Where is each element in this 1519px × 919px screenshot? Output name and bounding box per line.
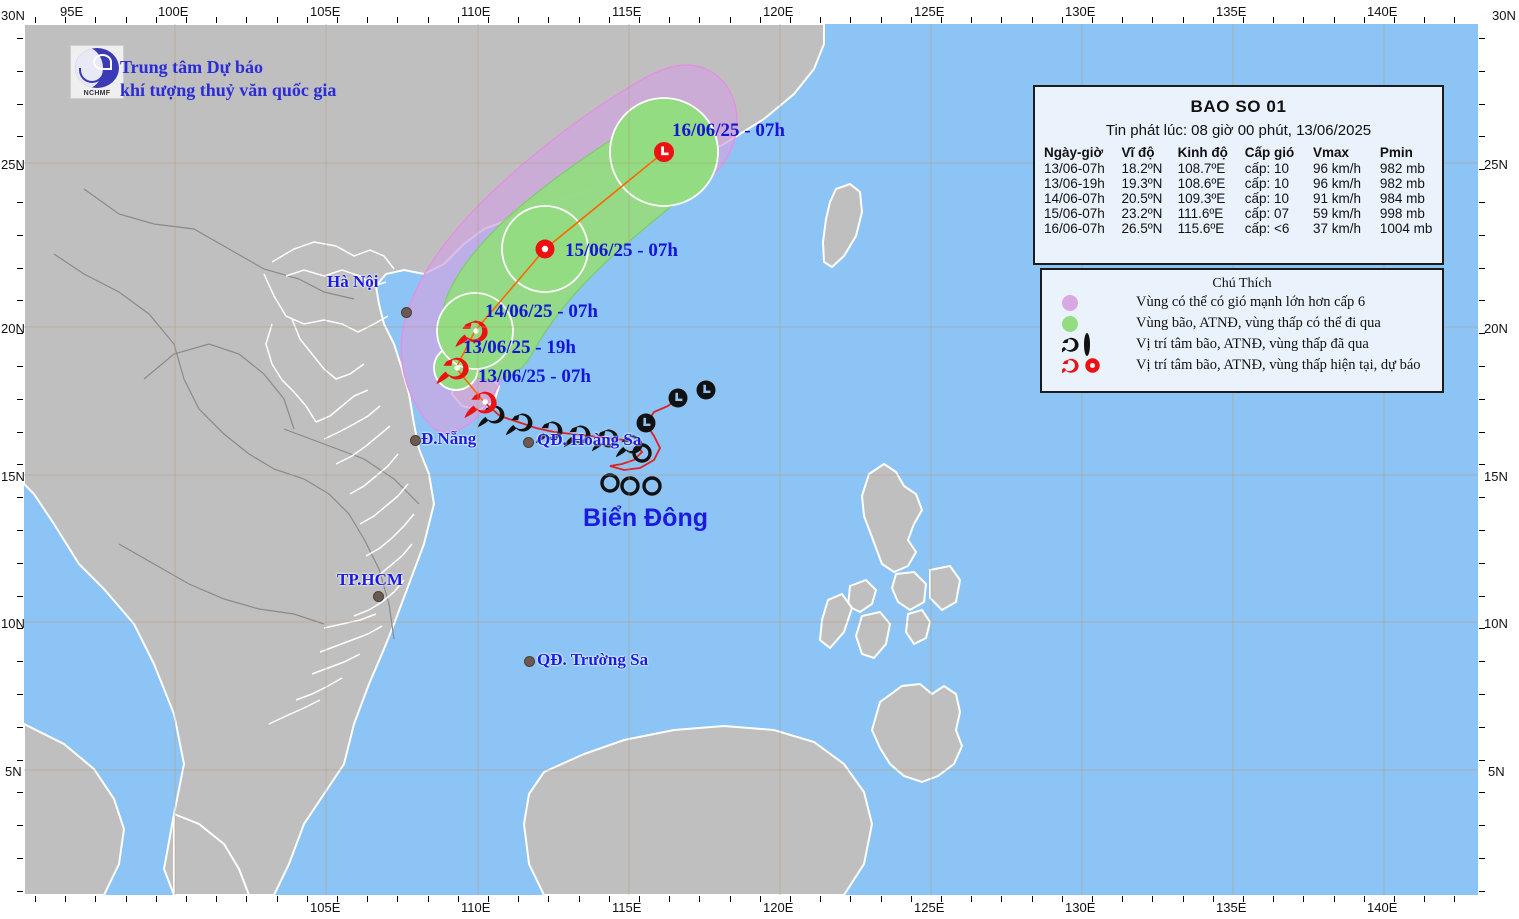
axis-tick bbox=[17, 792, 23, 793]
axis-tick bbox=[1273, 896, 1274, 902]
cell-pmin: 982 mb bbox=[1370, 161, 1442, 176]
axis-tick bbox=[669, 17, 670, 23]
cell-vmax: 96 km/h bbox=[1303, 161, 1370, 176]
cell-windlevel: cấp: 10 bbox=[1237, 176, 1303, 191]
axis-tick bbox=[458, 896, 459, 902]
cell-vmax: 96 km/h bbox=[1303, 176, 1370, 191]
past-L-2 bbox=[697, 381, 716, 400]
lat-label-left-5N: 5N bbox=[5, 764, 22, 779]
axis-tick bbox=[17, 891, 23, 892]
axis-tick bbox=[1479, 71, 1485, 72]
lon-label-top-110E: 110E bbox=[461, 4, 490, 19]
red-low-L-icon bbox=[1106, 357, 1123, 374]
logo-abbr: NCHMF bbox=[71, 90, 123, 97]
axis-tick bbox=[17, 300, 23, 301]
axis-tick bbox=[216, 896, 217, 902]
axis-tick bbox=[156, 17, 157, 23]
axis-tick bbox=[548, 896, 549, 902]
axis-tick bbox=[760, 896, 761, 902]
lat-label-right-25N: 25N bbox=[1484, 157, 1508, 172]
axis-tick bbox=[1213, 17, 1214, 23]
cell-longitude: 109.3ºE bbox=[1170, 191, 1237, 206]
cell-pmin: 982 mb bbox=[1370, 176, 1442, 191]
lat-label-right-15N: 15N bbox=[1484, 469, 1508, 484]
lon-label-top-115E: 115E bbox=[612, 4, 641, 19]
axis-tick bbox=[277, 17, 278, 23]
axis-tick bbox=[1479, 300, 1485, 301]
axis-tick bbox=[1303, 17, 1304, 23]
axis-tick bbox=[1273, 17, 1274, 23]
cell-latitude: 23.2ºN bbox=[1115, 206, 1169, 221]
logo-bird-icon bbox=[93, 54, 112, 70]
track-label-13-06-19h: 13/06/25 - 19h bbox=[463, 337, 576, 359]
axis-tick bbox=[1479, 792, 1485, 793]
axis-tick bbox=[367, 17, 368, 23]
cell-windlevel: cấp: 10 bbox=[1237, 191, 1303, 206]
axis-tick bbox=[820, 896, 821, 902]
agency-name: Trung tâm Dự báo khí tượng thuỷ văn quốc… bbox=[120, 56, 336, 102]
city-label-tphcm: TP.HCM bbox=[337, 570, 403, 590]
axis-tick bbox=[17, 38, 23, 39]
axis-tick bbox=[820, 17, 821, 23]
axis-tick bbox=[1152, 17, 1153, 23]
axis-tick bbox=[1479, 661, 1485, 662]
cell-vmax: 59 km/h bbox=[1303, 206, 1370, 221]
axis-tick bbox=[17, 399, 23, 400]
axis-tick bbox=[17, 202, 23, 203]
axis-tick bbox=[397, 17, 398, 23]
axis-tick bbox=[881, 17, 882, 23]
legend-title: Chú Thích bbox=[1042, 276, 1442, 292]
axis-tick bbox=[1032, 896, 1033, 902]
axis-tick bbox=[17, 497, 23, 498]
axis-tick bbox=[95, 896, 96, 902]
cell-windlevel: cấp: 10 bbox=[1237, 161, 1303, 176]
cell-windlevel: cấp: 07 bbox=[1237, 206, 1303, 221]
axis-tick bbox=[1213, 896, 1214, 902]
axis-tick bbox=[1479, 104, 1485, 105]
track-label-14-06: 14/06/25 - 07h bbox=[485, 301, 598, 323]
city-dot-danang bbox=[410, 435, 421, 446]
axis-tick bbox=[1032, 17, 1033, 23]
col-header-pmin: Pmin bbox=[1370, 145, 1442, 161]
axis-tick bbox=[1479, 235, 1485, 236]
axis-tick bbox=[17, 596, 23, 597]
col-header-longitude: Kinh độ bbox=[1170, 145, 1237, 161]
black-open-circle-icon bbox=[1084, 336, 1101, 353]
axis-tick bbox=[548, 17, 549, 23]
axis-tick bbox=[1479, 497, 1485, 498]
axis-tick bbox=[17, 661, 23, 662]
lon-label-top-135E: 135E bbox=[1216, 4, 1246, 19]
axis-tick bbox=[35, 17, 36, 23]
axis-tick bbox=[579, 17, 580, 23]
col-header-windlevel: Cấp gió bbox=[1237, 145, 1303, 161]
axis-tick bbox=[1152, 896, 1153, 902]
lon-label-bottom-110E: 110E bbox=[461, 900, 490, 915]
col-header-vmax: Vmax bbox=[1303, 145, 1370, 161]
black-low-L-icon bbox=[1106, 336, 1123, 353]
lon-label-bottom-140E: 140E bbox=[1367, 900, 1397, 915]
table-row: 16/06-07h 26.5ºN 115.6ºE cấp: <6 37 km/h… bbox=[1035, 221, 1442, 236]
cell-longitude: 115.6ºE bbox=[1170, 221, 1237, 236]
cell-datetime: 13/06-19h bbox=[1035, 176, 1115, 191]
axis-tick bbox=[1479, 891, 1485, 892]
lon-label-bottom-125E: 125E bbox=[914, 900, 944, 915]
axis-tick bbox=[1479, 596, 1485, 597]
lon-label-bottom-115E: 115E bbox=[612, 900, 641, 915]
axis-tick bbox=[1001, 17, 1002, 23]
axis-tick bbox=[1334, 896, 1335, 902]
axis-tick bbox=[669, 896, 670, 902]
axis-tick bbox=[1424, 896, 1425, 902]
axis-tick bbox=[1479, 858, 1485, 859]
city-label-hoangsa: QĐ. Hoàng Sa bbox=[537, 430, 641, 450]
cell-pmin: 998 mb bbox=[1370, 206, 1442, 221]
city-dot-hoangsa bbox=[523, 437, 534, 448]
storm-title: BAO SO 01 bbox=[1035, 97, 1442, 117]
cell-windlevel: cấp: <6 bbox=[1237, 221, 1303, 236]
lat-label-right-10N: 10N bbox=[1484, 616, 1508, 631]
axis-tick bbox=[1334, 17, 1335, 23]
axis-tick bbox=[17, 136, 23, 137]
axis-tick bbox=[1479, 530, 1485, 531]
storm-info-panel: BAO SO 01 Tin phát lúc: 08 giờ 00 phút, … bbox=[1033, 85, 1444, 265]
philippine-isle-4 bbox=[906, 610, 930, 644]
cell-longitude: 108.7ºE bbox=[1170, 161, 1237, 176]
cell-longitude: 111.6ºE bbox=[1170, 206, 1237, 221]
cell-latitude: 20.5ºN bbox=[1115, 191, 1169, 206]
track-label-13-06-07h: 13/06/25 - 07h bbox=[478, 366, 591, 388]
lon-label-top-130E: 130E bbox=[1065, 4, 1095, 19]
lon-label-top-105E: 105E bbox=[310, 4, 340, 19]
axis-tick bbox=[1424, 17, 1425, 23]
lon-label-bottom-135E: 135E bbox=[1216, 900, 1246, 915]
axis-tick bbox=[518, 17, 519, 23]
axis-tick bbox=[397, 896, 398, 902]
axis-tick bbox=[17, 432, 23, 433]
cell-datetime: 13/06-07h bbox=[1035, 161, 1115, 176]
axis-tick bbox=[1479, 727, 1485, 728]
axis-tick bbox=[17, 530, 23, 531]
axis-tick bbox=[216, 17, 217, 23]
axis-tick bbox=[277, 896, 278, 902]
axis-tick bbox=[17, 366, 23, 367]
axis-tick bbox=[760, 17, 761, 23]
purple-circle-icon bbox=[1062, 295, 1078, 311]
legend-text-wind6: Vùng có thể có gió mạnh lớn hơn cấp 6 bbox=[1136, 294, 1365, 311]
lon-label-top-140E: 140E bbox=[1367, 4, 1397, 19]
cell-vmax: 91 km/h bbox=[1303, 191, 1370, 206]
axis-tick bbox=[911, 17, 912, 23]
forecast-depression-15-07h bbox=[536, 240, 555, 259]
axis-tick bbox=[699, 17, 700, 23]
green-circle-icon bbox=[1062, 316, 1078, 332]
axis-tick bbox=[35, 896, 36, 902]
axis-tick bbox=[1479, 464, 1485, 465]
axis-tick bbox=[1479, 760, 1485, 761]
axis-tick bbox=[65, 896, 66, 902]
table-row: 15/06-07h 23.2ºN 111.6ºE cấp: 07 59 km/h… bbox=[1035, 206, 1442, 221]
legend-text-past: Vị trí tâm bão, ATNĐ, vùng thấp đã qua bbox=[1136, 336, 1369, 353]
axis-tick bbox=[246, 896, 247, 902]
lat-label-left-10N: 10N bbox=[1, 616, 25, 631]
axis-tick bbox=[17, 825, 23, 826]
col-header-datetime: Ngày-giờ bbox=[1035, 145, 1115, 161]
axis-tick bbox=[1479, 202, 1485, 203]
legend-symbol-purple-circle bbox=[1054, 295, 1136, 311]
forecast-low-16-07h bbox=[654, 142, 674, 162]
axis-tick bbox=[17, 71, 23, 72]
axis-tick bbox=[730, 896, 731, 902]
axis-tick bbox=[730, 17, 731, 23]
axis-tick bbox=[17, 727, 23, 728]
lat-label-right-5N: 5N bbox=[1488, 764, 1505, 779]
cell-longitude: 108.6ºE bbox=[1170, 176, 1237, 191]
col-header-latitude: Vĩ độ bbox=[1115, 145, 1169, 161]
lon-label-bottom-120E: 120E bbox=[763, 900, 793, 915]
red-storm-swirl-icon bbox=[1062, 357, 1079, 374]
agency-name-line1: Trung tâm Dự báo bbox=[120, 56, 336, 79]
axis-tick bbox=[17, 760, 23, 761]
city-label-truongsa: QĐ. Trường Sa bbox=[537, 650, 648, 670]
axis-tick bbox=[881, 896, 882, 902]
axis-tick bbox=[850, 17, 851, 23]
axis-tick bbox=[126, 896, 127, 902]
axis-tick bbox=[95, 17, 96, 23]
lon-label-bottom-130E: 130E bbox=[1065, 900, 1095, 915]
legend-panel: Chú Thích Vùng có thể có gió mạnh lớn hơ… bbox=[1040, 268, 1444, 393]
axis-right bbox=[1478, 0, 1519, 919]
axis-tick bbox=[1479, 432, 1485, 433]
cell-latitude: 18.2ºN bbox=[1115, 161, 1169, 176]
axis-tick bbox=[1479, 366, 1485, 367]
axis-tick bbox=[1122, 896, 1123, 902]
cell-pmin: 1004 mb bbox=[1370, 221, 1442, 236]
cell-vmax: 37 km/h bbox=[1303, 221, 1370, 236]
legend-text-current: Vị trí tâm bão, ATNĐ, vùng thấp hiện tại… bbox=[1136, 357, 1421, 374]
axis-tick bbox=[246, 17, 247, 23]
red-filled-circle-icon bbox=[1084, 357, 1101, 374]
sea-label-bien-dong: Biển Đông bbox=[583, 504, 708, 533]
legend-text-passage: Vùng bão, ATNĐ, vùng thấp có thể đi qua bbox=[1136, 315, 1381, 332]
axis-tick bbox=[579, 896, 580, 902]
axis-left bbox=[0, 0, 24, 919]
table-header-row: Ngày-giờ Vĩ độ Kinh độ Cấp gió Vmax Pmin bbox=[1035, 145, 1442, 161]
axis-tick bbox=[428, 17, 429, 23]
axis-tick bbox=[17, 268, 23, 269]
axis-tick bbox=[609, 896, 610, 902]
lon-label-top-95E: 95E bbox=[60, 4, 83, 19]
cell-datetime: 15/06-07h bbox=[1035, 206, 1115, 221]
legend-row-past: Vị trí tâm bão, ATNĐ, vùng thấp đã qua bbox=[1042, 334, 1442, 355]
axis-tick bbox=[17, 858, 23, 859]
axis-tick bbox=[1062, 17, 1063, 23]
axis-tick bbox=[186, 896, 187, 902]
cell-datetime: 14/06-07h bbox=[1035, 191, 1115, 206]
axis-tick bbox=[971, 17, 972, 23]
axis-tick bbox=[1479, 563, 1485, 564]
city-dot-hanoi bbox=[401, 307, 412, 318]
table-row: 13/06-19h 19.3ºN 108.6ºE cấp: 10 96 km/h… bbox=[1035, 176, 1442, 191]
axis-tick bbox=[1454, 17, 1455, 23]
axis-tick bbox=[1479, 399, 1485, 400]
forecast-table: Ngày-giờ Vĩ độ Kinh độ Cấp gió Vmax Pmin… bbox=[1035, 145, 1442, 236]
legend-row-wind6: Vùng có thể có gió mạnh lớn hơn cấp 6 bbox=[1042, 292, 1442, 313]
lon-label-top-120E: 120E bbox=[763, 4, 793, 19]
lat-label-left-15N: 15N bbox=[1, 469, 25, 484]
axis-tick bbox=[17, 104, 23, 105]
table-row: 14/06-07h 20.5ºN 109.3ºE cấp: 10 91 km/h… bbox=[1035, 191, 1442, 206]
legend-row-passage: Vùng bão, ATNĐ, vùng thấp có thể đi qua bbox=[1042, 313, 1442, 334]
legend-symbol-red-trio bbox=[1054, 357, 1136, 374]
axis-tick bbox=[1183, 17, 1184, 23]
lon-label-top-125E: 125E bbox=[914, 4, 944, 19]
track-label-15-06: 15/06/25 - 07h bbox=[565, 240, 678, 262]
cell-latitude: 26.5ºN bbox=[1115, 221, 1169, 236]
axis-tick bbox=[1454, 896, 1455, 902]
axis-tick bbox=[17, 464, 23, 465]
axis-tick bbox=[307, 17, 308, 23]
black-storm-swirl-icon bbox=[1062, 336, 1079, 353]
lat-label-right-20N: 20N bbox=[1484, 321, 1508, 336]
nchmf-logo: NCHMF bbox=[70, 45, 124, 99]
axis-tick bbox=[1122, 17, 1123, 23]
lat-label-left-20N: 20N bbox=[1, 321, 25, 336]
city-dot-truongsa bbox=[524, 656, 535, 667]
axis-tick bbox=[518, 896, 519, 902]
axis-tick bbox=[1479, 825, 1485, 826]
lat-label-left-25N: 25N bbox=[1, 157, 25, 172]
axis-tick bbox=[1001, 896, 1002, 902]
axis-tick bbox=[971, 896, 972, 902]
legend-symbol-black-trio bbox=[1054, 336, 1136, 353]
past-L-1 bbox=[669, 389, 688, 408]
axis-tick bbox=[307, 896, 308, 902]
lat-label-right-30N: 30N bbox=[1492, 8, 1516, 23]
lat-label-left-30N: 30N bbox=[1, 8, 25, 23]
city-dot-tphcm bbox=[373, 591, 384, 602]
axis-tick bbox=[458, 17, 459, 23]
axis-tick bbox=[1479, 268, 1485, 269]
axis-tick bbox=[1479, 38, 1485, 39]
table-row: 13/06-07h 18.2ºN 108.7ºE cấp: 10 96 km/h… bbox=[1035, 161, 1442, 176]
track-label-16-06: 16/06/25 - 07h bbox=[672, 120, 785, 142]
agency-name-line2: khí tượng thuỷ văn quốc gia bbox=[120, 79, 336, 102]
city-label-danang: Đ.Nẵng bbox=[421, 429, 476, 449]
axis-tick bbox=[1303, 896, 1304, 902]
axis-tick bbox=[367, 896, 368, 902]
cell-datetime: 16/06-07h bbox=[1035, 221, 1115, 236]
storm-track-map-page: Hà Nội Đ.Nẵng TP.HCM QĐ. Hoàng Sa QĐ. Tr… bbox=[0, 0, 1519, 919]
axis-tick bbox=[1479, 136, 1485, 137]
philippine-isle-5 bbox=[930, 566, 960, 610]
axis-tick bbox=[850, 896, 851, 902]
axis-tick bbox=[156, 896, 157, 902]
axis-tick bbox=[17, 694, 23, 695]
axis-tick bbox=[699, 896, 700, 902]
lon-label-bottom-105E: 105E bbox=[310, 900, 340, 915]
axis-tick bbox=[17, 563, 23, 564]
axis-tick bbox=[1479, 694, 1485, 695]
axis-tick bbox=[1364, 896, 1365, 902]
lon-label-top-100E: 100E bbox=[158, 4, 188, 19]
axis-tick bbox=[428, 896, 429, 902]
axis-tick bbox=[1183, 896, 1184, 902]
bulletin-time: Tin phát lúc: 08 giờ 00 phút, 13/06/2025 bbox=[1035, 122, 1442, 139]
legend-symbol-green-circle bbox=[1054, 316, 1136, 332]
city-label-hanoi: Hà Nội bbox=[327, 272, 378, 292]
axis-tick bbox=[609, 17, 610, 23]
axis-tick bbox=[17, 235, 23, 236]
cell-latitude: 19.3ºN bbox=[1115, 176, 1169, 191]
legend-row-current: Vị trí tâm bão, ATNĐ, vùng thấp hiện tại… bbox=[1042, 355, 1442, 376]
axis-tick bbox=[126, 17, 127, 23]
axis-tick bbox=[911, 896, 912, 902]
cell-pmin: 984 mb bbox=[1370, 191, 1442, 206]
axis-tick bbox=[1062, 896, 1063, 902]
axis-tick bbox=[1364, 17, 1365, 23]
